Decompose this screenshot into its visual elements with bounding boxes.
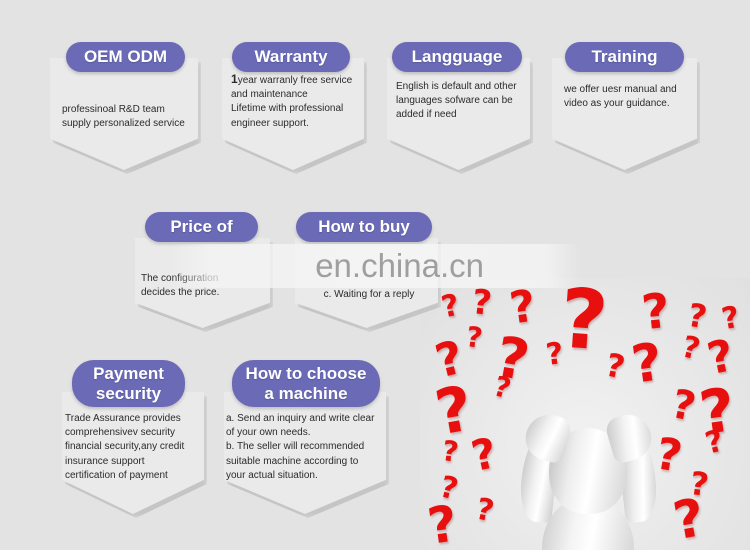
question-mark-icon: ? [603, 348, 628, 383]
question-mark-icon: ? [439, 291, 462, 324]
body-text-payment-security: Trade Assurance provides comprehensivev … [65, 412, 207, 483]
body-text-warranty: 1year warranly free service and maintena… [231, 71, 367, 131]
question-mark-icon: ? [507, 284, 538, 331]
question-mark-icon: ? [470, 285, 493, 321]
badge-how-to-choose-a-machine: How to choose a machine [232, 360, 380, 407]
question-mark-icon: ? [685, 299, 709, 334]
question-mark-icon: ? [544, 339, 564, 371]
badge-training: Training [565, 42, 684, 72]
body-text-training: we offer uesr manual and video as your g… [564, 83, 700, 111]
badge-payment-security: Payment security [72, 360, 185, 407]
badge-how-to-buy: How to buy [296, 212, 432, 242]
question-mark-icon: ? [704, 334, 738, 382]
warranty-lead-number: 1 [231, 72, 238, 86]
badge-warranty: Warranty [232, 42, 350, 72]
body-text-language: English is default and other languages s… [396, 80, 530, 123]
body-text-how-to-buy: c. Waiting for a reply [300, 256, 438, 302]
question-mark-icon: ? [668, 384, 699, 428]
badge-language: Langguage [392, 42, 522, 72]
badge-oem-odm: OEM ODM [66, 42, 185, 72]
body-text-how-to-choose-a-machine: a. Send an inquiry and write clear of yo… [226, 412, 388, 483]
promo-infographic: ???????????????????????????? OEM ODM pro… [0, 0, 750, 550]
warranty-body: year warranly free service and maintenan… [231, 75, 352, 129]
question-mark-icon: ? [440, 437, 460, 467]
badge-price: Price of [145, 212, 258, 242]
question-mark-icon: ? [640, 287, 673, 338]
question-mark-icon: ? [473, 495, 496, 528]
person-figure [516, 411, 661, 550]
question-mark-icon: ? [468, 432, 501, 478]
question-mark-icon: ? [464, 323, 484, 353]
question-mark-icon: ? [557, 278, 610, 363]
body-text-price: The configuration decides the price. [141, 272, 269, 300]
question-mark-icon: ? [425, 498, 461, 550]
question-mark-icon: ? [679, 332, 703, 365]
body-text-oem-odm: professinoal R&D team supply personalize… [62, 103, 200, 131]
confused-person-illustration: ???????????????????????????? [420, 278, 750, 550]
question-mark-icon: ? [629, 336, 666, 392]
